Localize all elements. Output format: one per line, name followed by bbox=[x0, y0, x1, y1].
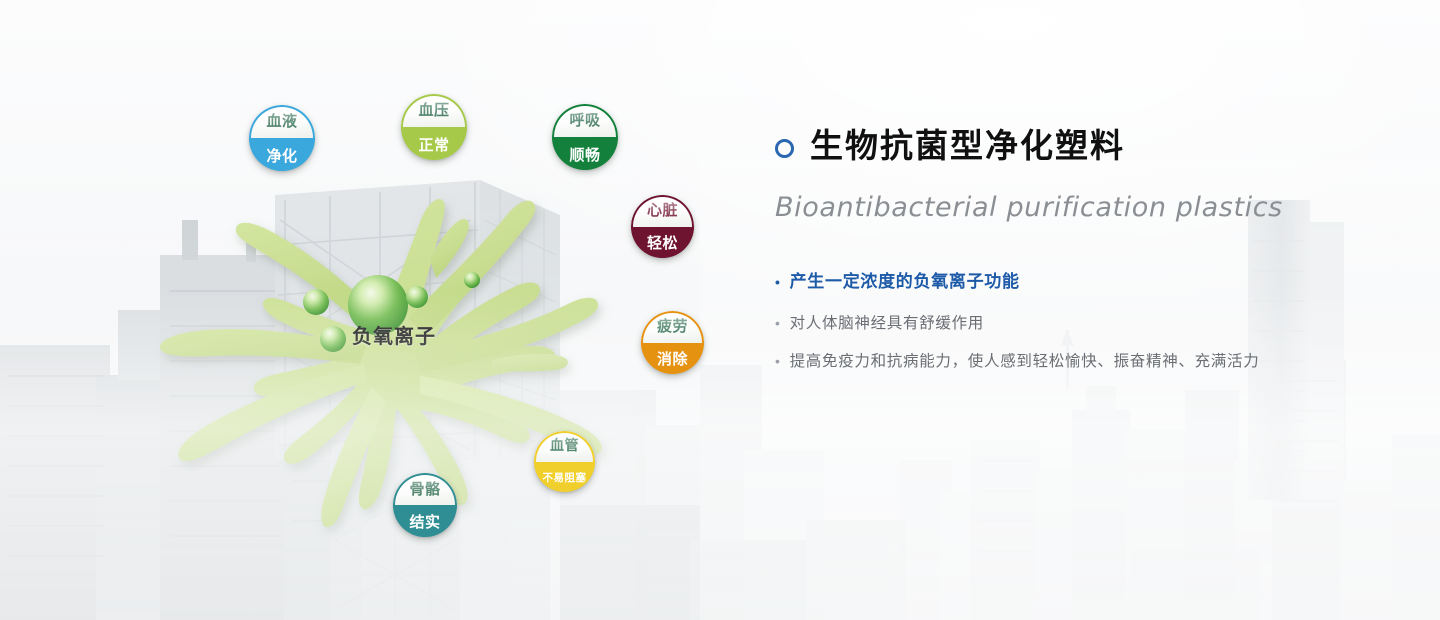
list-item-label: 产生一定浓度的负氧离子功能 bbox=[790, 267, 1020, 292]
list-item-label: 提高免疫力和抗病能力，使人感到轻松愉快、振奋精神、充满活力 bbox=[790, 349, 1260, 371]
badge-heart[interactable]: 心脏 轻松 bbox=[631, 195, 694, 258]
text-content-column: 生物抗菌型净化塑料 Bioantibacterial purification … bbox=[775, 128, 1395, 387]
list-item: • 对人体脑神经具有舒缓作用 bbox=[775, 311, 1395, 333]
badge-bone[interactable]: 骨骼 结实 bbox=[393, 473, 457, 537]
ring-circle-icon bbox=[775, 139, 794, 158]
badge-fatigue[interactable]: 疲劳 消除 bbox=[641, 311, 704, 374]
list-item: • 提高免疫力和抗病能力，使人感到轻松愉快、振奋精神、充满活力 bbox=[775, 349, 1395, 371]
badge-blood-vessel[interactable]: 血管 不易阻塞 bbox=[534, 431, 595, 492]
badge-breathing[interactable]: 呼吸 顺畅 bbox=[552, 104, 618, 170]
neuron-body bbox=[160, 199, 602, 527]
neuron-illustration bbox=[120, 150, 660, 550]
page-subtitle: Bioantibacterial purification plastics bbox=[775, 192, 1395, 223]
bullet-marker-icon: • bbox=[775, 275, 781, 289]
list-item: • 产生一定浓度的负氧离子功能 bbox=[775, 267, 1395, 292]
center-ion-label: 负氧离子 bbox=[352, 320, 436, 349]
promo-banner: 负氧离子 血液 净化 血压 正常 呼吸 顺畅 bbox=[0, 0, 1440, 620]
badge-blood[interactable]: 血液 净化 bbox=[249, 105, 315, 171]
bullet-marker-icon: • bbox=[775, 354, 781, 368]
list-item-label: 对人体脑神经具有舒缓作用 bbox=[790, 311, 984, 333]
feature-bullet-list: • 产生一定浓度的负氧离子功能 • 对人体脑神经具有舒缓作用 • 提高免疫力和抗… bbox=[775, 267, 1395, 371]
bullet-marker-icon: • bbox=[775, 316, 781, 330]
title-row: 生物抗菌型净化塑料 bbox=[775, 128, 1395, 164]
page-title: 生物抗菌型净化塑料 bbox=[810, 128, 1125, 164]
badge-blood-pressure[interactable]: 血压 正常 bbox=[401, 94, 467, 160]
